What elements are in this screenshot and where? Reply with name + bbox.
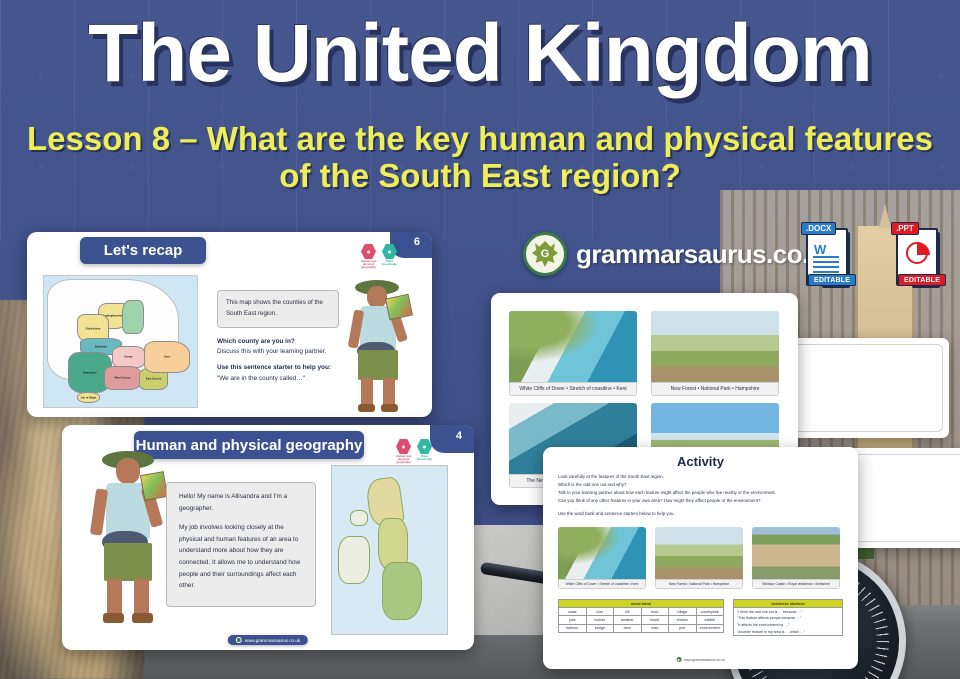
word-cell: jobs <box>559 616 587 624</box>
paper-map-icon <box>385 294 413 321</box>
photo-image <box>558 527 646 579</box>
word-cell: countryside <box>696 608 724 616</box>
photo-image <box>655 527 743 579</box>
table-row: harbour bridge farm road port environmen… <box>559 624 724 632</box>
recap-instruction: Discuss this with your learning partner. <box>217 348 326 355</box>
logo-initial: G <box>532 241 558 267</box>
grammarsaurus-logo: G grammarsaurus.co.uk <box>523 232 838 276</box>
activity-photo-white-cliffs: White Cliffs of Dover • Stretch of coast… <box>558 527 646 589</box>
word-cell: hill <box>614 608 642 616</box>
slide-footer-url: www.grammarsaurus.co.uk <box>245 638 300 643</box>
sentence-starter-item: "It affects the environment by …" <box>734 622 843 629</box>
table-header-row: word bank <box>559 600 724 608</box>
word-glyph: W <box>814 242 826 257</box>
map-pin-icon: ◉ <box>382 244 397 259</box>
table-row: "This feature affects people because …" <box>734 615 843 622</box>
word-bank-header: word bank <box>559 600 724 608</box>
map-pin-icon: ◉ <box>417 439 432 454</box>
south-east-counties-map: Buckinghamshire Oxfordshire Berkshire Ha… <box>43 275 198 408</box>
ppt-badge: .PPT EDITABLE <box>890 222 946 292</box>
slide-card-human-physical-geography[interactable]: 4 Human and physical geography ◍ Human a… <box>62 425 474 650</box>
word-cell: weather <box>614 616 642 624</box>
photo-image <box>509 311 637 382</box>
leaf-logo-icon: G <box>523 232 567 276</box>
activity-footer-url: www.grammarsaurus.co.uk <box>684 658 725 662</box>
word-cell: village <box>669 608 697 616</box>
skill-badges: ◍ Human and physical geography ◉ Place k… <box>360 244 398 270</box>
leg-right <box>383 378 395 406</box>
word-cell: town <box>641 608 669 616</box>
county-kent: Kent <box>144 341 190 373</box>
photo-caption: New Forest • National Park • Hampshire <box>651 382 779 396</box>
page-title: The United Kingdom <box>0 8 960 100</box>
speech-bubble-geography: Hello! My name is Allisandra and I'm a g… <box>166 482 316 607</box>
recap-starter-label: Use this sentence starter to help you: <box>217 364 331 371</box>
photo-caption: White Cliffs of Dover • Stretch of coast… <box>558 579 646 589</box>
county-isle-of-wight: Isle of Wight <box>77 392 100 403</box>
county-west-sussex: West Sussex <box>104 366 141 390</box>
slide-corner <box>430 425 474 453</box>
word-cell: coast <box>559 608 587 616</box>
photo-image <box>752 527 840 579</box>
photo-new-forest: New Forest • National Park • Hampshire <box>651 311 779 396</box>
word-cell: road <box>641 624 669 632</box>
speech-paragraph-1: Hello! My name is Allisandra and I'm a g… <box>179 491 303 514</box>
slide-number: 4 <box>456 430 462 442</box>
sentence-starter-item: "I think the odd one out is … because …" <box>734 608 843 615</box>
speech-paragraph-2: My job involves looking closely at the p… <box>179 522 303 592</box>
sentence-starter-item: "This feature affects people because …" <box>734 615 843 622</box>
activity-photo-new-forest: New Forest • National Park • Hampshire <box>655 527 743 589</box>
head <box>367 286 387 308</box>
explorer-character-recap <box>327 280 427 413</box>
badge-place-knowledge: ◉ Place knowledge <box>381 244 398 270</box>
badge-human-physical-geography: ◍ Human and physical geography <box>395 439 412 465</box>
slide-title-lets-recap: Let's recap <box>80 237 206 264</box>
photo-caption: Windsor Castle • Royal residence • Berks… <box>752 579 840 589</box>
table-row: "It affects the environment by …" <box>734 622 843 629</box>
activity-photo-windsor-castle: Windsor Castle • Royal residence • Berks… <box>752 527 840 589</box>
activity-line-1: Look carefully at the features of the So… <box>558 474 664 479</box>
boot-right <box>381 404 398 412</box>
word-cell: bridge <box>586 624 614 632</box>
page-subtitle: Lesson 8 – What are the key human and ph… <box>16 120 944 194</box>
table-row: "I think the odd one out is … because …" <box>734 608 843 615</box>
table-header-row: sentence starters <box>734 600 843 608</box>
activity-title: Activity <box>543 454 858 469</box>
word-cell: travel <box>641 616 669 624</box>
sentence-starters-table: sentence starters "I think the odd one o… <box>733 599 843 636</box>
county-surrey: Surrey <box>112 346 145 368</box>
uk-south-england <box>382 562 422 620</box>
ppt-editable-label: EDITABLE <box>898 274 946 286</box>
boot-right <box>132 613 153 623</box>
word-cell: visitors <box>669 616 697 624</box>
leaf-logo-icon <box>236 637 242 643</box>
recap-question: Which county are you in? <box>217 338 295 345</box>
docx-lines-icon <box>813 256 839 276</box>
uk-ireland <box>338 536 370 584</box>
word-cell: river <box>586 608 614 616</box>
leaf-logo-icon <box>676 657 681 662</box>
photo-caption: New Forest • National Park • Hampshire <box>655 579 743 589</box>
sentence-starter-item: "Another feature in my area is … which …… <box>734 629 843 636</box>
skill-badges: ◍ Human and physical geography ◉ Place k… <box>395 439 433 465</box>
leg-left <box>107 579 122 615</box>
activity-line-4: Can you think of any other features in y… <box>558 498 761 503</box>
docx-tag-label: .DOCX <box>801 222 836 235</box>
boot-left <box>103 613 124 623</box>
leg-right <box>134 579 149 615</box>
activity-card[interactable]: Activity Look carefully at the features … <box>543 447 858 669</box>
word-cell: harbour <box>559 624 587 632</box>
word-cell: environment <box>696 624 724 632</box>
head <box>116 458 140 484</box>
recap-starter-text: "We are in the county called…" <box>217 375 305 382</box>
badge-human-physical-geography: ◍ Human and physical geography <box>360 244 377 270</box>
photo-white-cliffs: White Cliffs of Dover • Stretch of coast… <box>509 311 637 396</box>
activity-line-2: Which is the odd one out and why? <box>558 482 626 487</box>
globe-icon: ◍ <box>396 439 411 454</box>
word-cell: farm <box>614 624 642 632</box>
logo-text: grammarsaurus.co.uk <box>576 239 838 270</box>
county-berkshire-north <box>122 300 144 334</box>
uk-northern-ireland <box>350 510 368 526</box>
activity-line-3: Talk to your learning partner about how … <box>558 490 776 495</box>
photo-caption: White Cliffs of Dover • Stretch of coast… <box>509 382 637 396</box>
shorts <box>104 543 152 581</box>
shorts <box>358 350 398 380</box>
docx-editable-label: EDITABLE <box>808 274 856 286</box>
table-row: jobs homes weather travel visitors wildl… <box>559 616 724 624</box>
poster-header: The United Kingdom Lesson 8 – What are t… <box>0 0 960 210</box>
poster-canvas: The United Kingdom Lesson 8 – What are t… <box>0 0 960 679</box>
pie-chart-icon <box>906 242 928 264</box>
paper-map-icon <box>140 471 168 501</box>
photo-image <box>651 311 779 382</box>
docx-badge: W .DOCX EDITABLE <box>800 222 856 292</box>
leg-left <box>361 378 373 406</box>
activity-footer: www.grammarsaurus.co.uk <box>668 655 733 664</box>
word-bank-table: word bank coast river hill town village … <box>558 599 724 633</box>
speech-bubble-recap: This map shows the counties of the South… <box>217 290 339 328</box>
globe-icon: ◍ <box>361 244 376 259</box>
slide-footer-geography: www.grammarsaurus.co.uk <box>228 635 308 645</box>
table-row: coast river hill town village countrysid… <box>559 608 724 616</box>
word-cell: homes <box>586 616 614 624</box>
table-row: "Another feature in my area is … which …… <box>734 629 843 636</box>
uk-relief-map <box>331 465 448 635</box>
word-cell: port <box>669 624 697 632</box>
slide-number: 6 <box>414 236 420 248</box>
slide-card-lets-recap[interactable]: 6 Let's recap ◍ Human and physical geogr… <box>27 232 432 417</box>
boot-left <box>358 404 375 412</box>
word-cell: wildlife <box>696 616 724 624</box>
explorer-character-geography <box>80 451 172 631</box>
ppt-tag-label: .PPT <box>891 222 919 235</box>
activity-line-5: Use the word bank and sentence starters … <box>558 511 675 516</box>
badge-place-knowledge: ◉ Place knowledge <box>416 439 433 465</box>
sentence-starters-header: sentence starters <box>734 600 843 608</box>
